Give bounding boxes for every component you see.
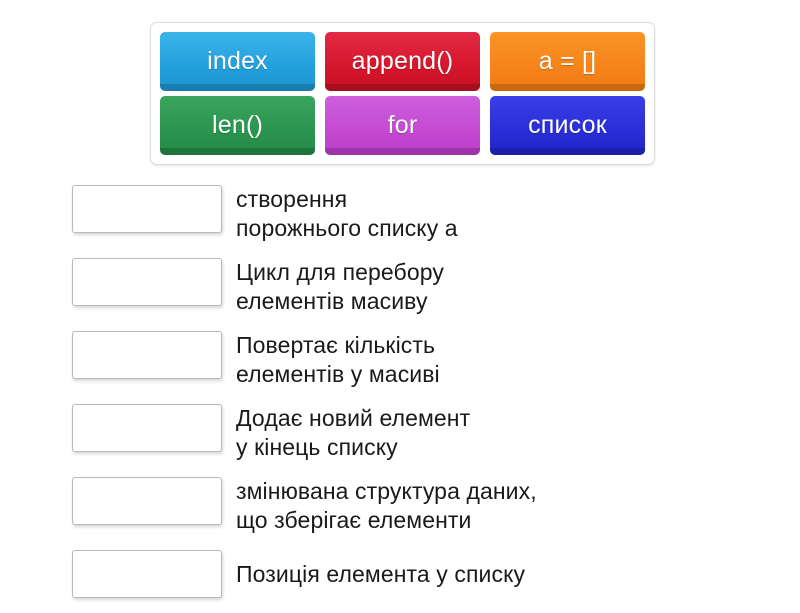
tile-label: a = []: [539, 49, 597, 74]
tile-label: len(): [212, 113, 263, 138]
tile-label: index: [207, 49, 268, 74]
drop-zone-q5[interactable]: [72, 477, 222, 525]
question-row: Повертає кількість елементів у масиві: [72, 331, 762, 389]
question-row: Цикл для перебору елементів масиву: [72, 258, 762, 316]
question-line: що зберігає елементи: [236, 506, 762, 535]
question-line: створення: [236, 185, 762, 214]
tile-append[interactable]: append(): [325, 32, 480, 91]
question-row: змінювана структура даних, що зберігає е…: [72, 477, 762, 535]
tile-for[interactable]: for: [325, 96, 480, 155]
drop-zone-q6[interactable]: [72, 550, 222, 598]
question-text-q6: Позиція елемента у списку: [236, 560, 762, 589]
question-text-q1: створення порожнього списку а: [236, 185, 762, 243]
tile-spysok[interactable]: список: [490, 96, 645, 155]
drop-zone-q1[interactable]: [72, 185, 222, 233]
tile-index[interactable]: index: [160, 32, 315, 91]
question-line: Цикл для перебору: [236, 258, 762, 287]
question-line: Повертає кількість: [236, 331, 762, 360]
question-text-q4: Додає новий елемент у кінець списку: [236, 404, 762, 462]
question-row: Додає новий елемент у кінець списку: [72, 404, 762, 462]
question-row: створення порожнього списку а: [72, 185, 762, 243]
question-line: Позиція елемента у списку: [236, 560, 762, 589]
question-text-q5: змінювана структура даних, що зберігає е…: [236, 477, 762, 535]
question-list: створення порожнього списку а Цикл для п…: [72, 185, 762, 613]
question-line: Додає новий елемент: [236, 404, 762, 433]
tile-label: append(): [352, 49, 454, 74]
tile-bank-row-1: index append() a = []: [160, 32, 645, 91]
question-line: елементів у масиві: [236, 360, 762, 389]
question-line: елементів масиву: [236, 287, 762, 316]
drop-zone-q2[interactable]: [72, 258, 222, 306]
tile-len[interactable]: len(): [160, 96, 315, 155]
tile-label: for: [388, 113, 418, 138]
tile-bank-row-2: len() for список: [160, 96, 645, 155]
tile-label: список: [528, 113, 607, 138]
question-row: Позиція елемента у списку: [72, 550, 762, 598]
question-line: у кінець списку: [236, 433, 762, 462]
question-line: порожнього списку а: [236, 214, 762, 243]
question-text-q3: Повертає кількість елементів у масиві: [236, 331, 762, 389]
drop-zone-q4[interactable]: [72, 404, 222, 452]
tile-bank: index append() a = [] len() for список: [150, 22, 655, 165]
question-line: змінювана структура даних,: [236, 477, 762, 506]
tile-a-equals-empty-list[interactable]: a = []: [490, 32, 645, 91]
drop-zone-q3[interactable]: [72, 331, 222, 379]
question-text-q2: Цикл для перебору елементів масиву: [236, 258, 762, 316]
